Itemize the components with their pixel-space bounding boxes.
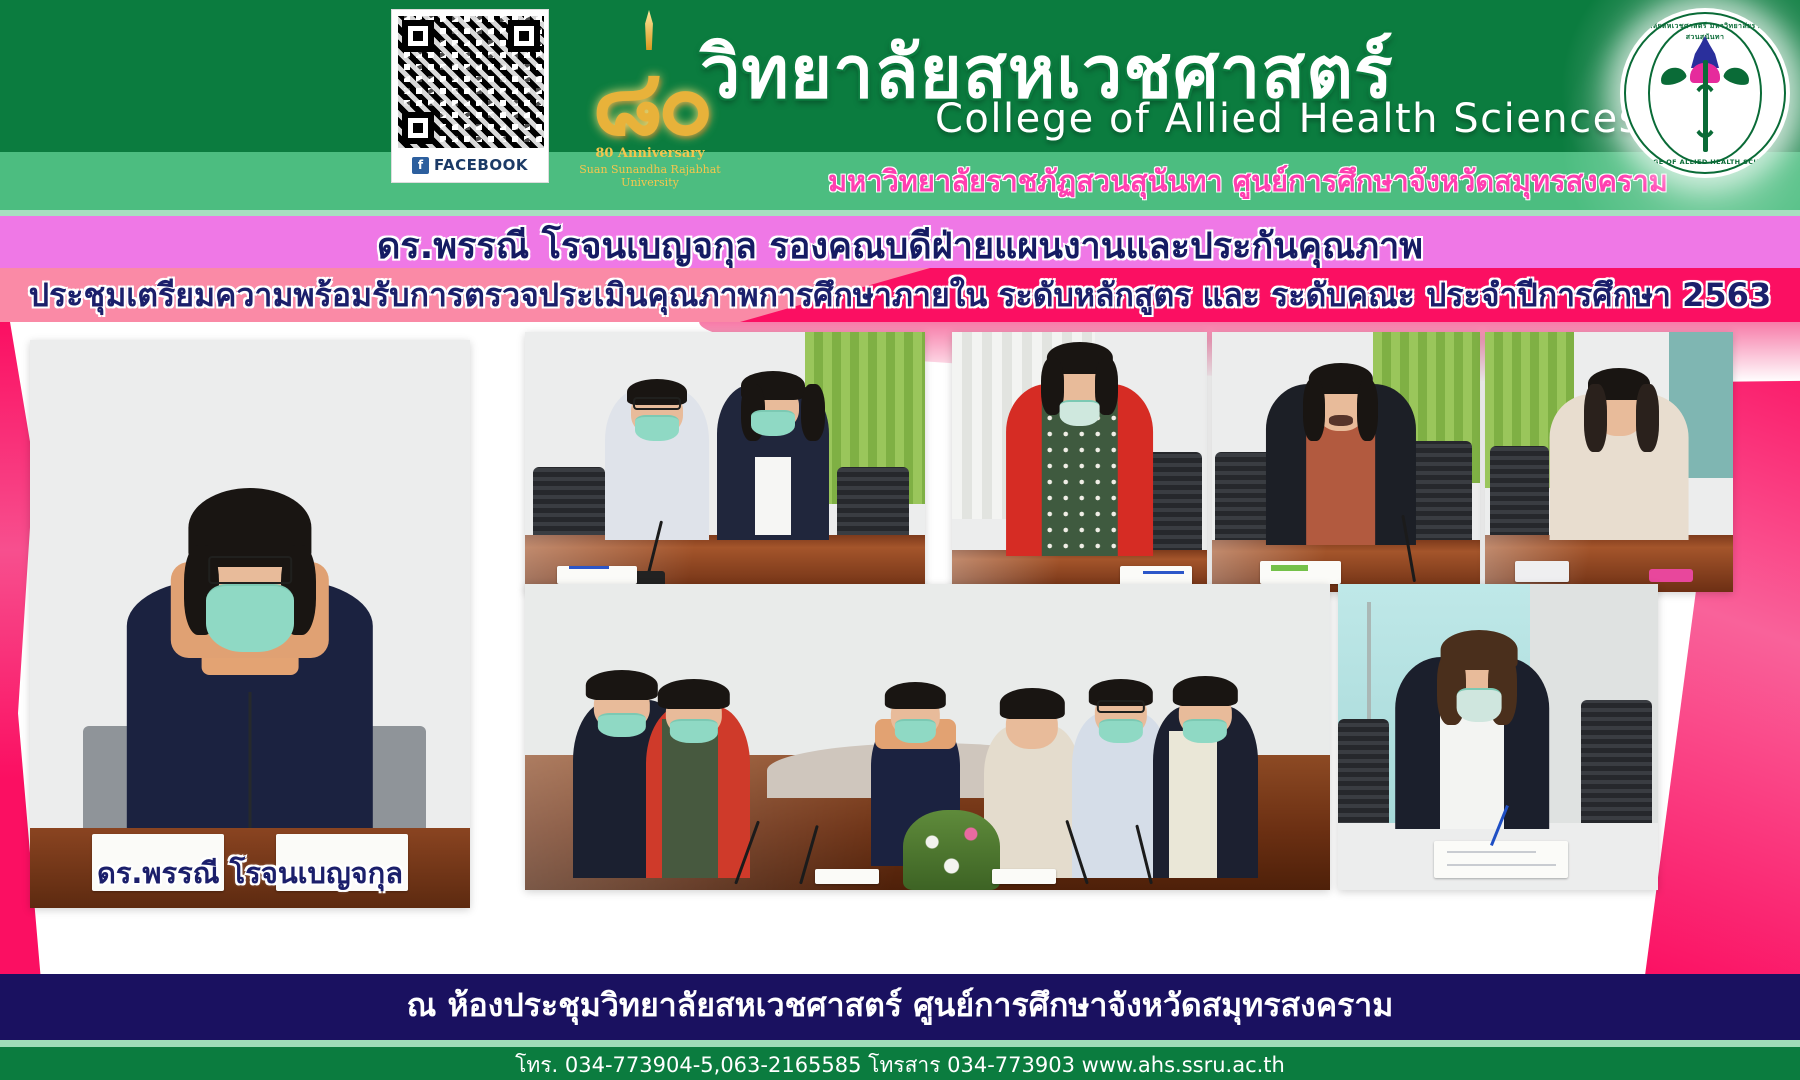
qr-finder-top-left	[402, 20, 434, 52]
footer-divider-line	[0, 1040, 1800, 1047]
event-title-text: ประชุมเตรียมความพร้อมรับการตรวจประเมินคุ…	[0, 270, 1800, 321]
portrait-name-caption: ดร.พรรณี โรจนเบญจกุล	[30, 850, 470, 896]
poster-root: f FACEBOOK ๘๐ 80 Anniversary Suan Sunand…	[0, 0, 1800, 1080]
caduceus-snake	[1691, 84, 1719, 138]
photo-lady-red-cardigan[interactable]	[952, 332, 1207, 592]
venue-text: ณ ห้องประชุมวิทยาลัยสหเวชศาสตร์ ศูนย์การ…	[0, 980, 1800, 1031]
footer-contact-text: โทร. 034-773904-5,063-2165585 โทรสาร 034…	[0, 1049, 1800, 1080]
org-subtitle-thai: มหาวิทยาลัยราชภัฏสวนสุนันทา ศูนย์การศึกษ…	[828, 158, 1668, 204]
qr-code-icon	[398, 16, 544, 148]
speaker-title-text: ดร.พรรณี โรจนเบญจกุล รองคณบดีฝ่ายแผนงานแ…	[0, 217, 1800, 268]
photo-gallery: ดร.พรรณี โรจนเบญจกุล	[0, 322, 1800, 974]
college-seal-icon: วิทยาลัยสหเวชศาสตร์ มหาวิทยาลัยราชภัฏสวน…	[1620, 8, 1790, 178]
anniversary-line1: 80 Anniversary	[570, 146, 730, 161]
photo-portrait-main[interactable]: ดร.พรรณี โรจนเบญจกุล	[30, 340, 470, 908]
footer-bar: โทร. 034-773904-5,063-2165585 โทรสาร 034…	[0, 1047, 1800, 1080]
photo-smiling-lady[interactable]	[1212, 332, 1480, 592]
qr-finder-top-right	[508, 20, 540, 52]
title-banner-primary: ดร.พรรณี โรจนเบญจกุล รองคณบดีฝ่ายแผนงานแ…	[0, 216, 1800, 268]
photo-lady-lace-blouse[interactable]	[1485, 332, 1733, 592]
photo-group-meeting[interactable]	[525, 584, 1330, 890]
qr-finder-bottom-left	[402, 112, 434, 144]
org-title-english: College of Allied Health Sciences	[935, 96, 1641, 142]
caduceus-icon	[1682, 60, 1728, 152]
qr-caption: f FACEBOOK	[398, 148, 542, 182]
title-banner-secondary: ประชุมเตรียมความพร้อมรับการตรวจประเมินคุ…	[0, 268, 1800, 322]
photo-lady-writing[interactable]	[1338, 584, 1658, 890]
qr-code-block[interactable]: f FACEBOOK	[391, 9, 549, 183]
venue-bar: ณ ห้องประชุมวิทยาลัยสหเวชศาสตร์ ศูนย์การ…	[0, 974, 1800, 1040]
facebook-icon: f	[412, 157, 429, 174]
anniversary-line2: Suan Sunandha Rajabhat University	[570, 163, 730, 189]
facebook-label: FACEBOOK	[434, 156, 528, 174]
photo-two-attendees[interactable]	[525, 332, 925, 592]
seal-text-bottom: COLLEGE OF ALLIED HEALTH SCIENCES	[1620, 158, 1790, 166]
